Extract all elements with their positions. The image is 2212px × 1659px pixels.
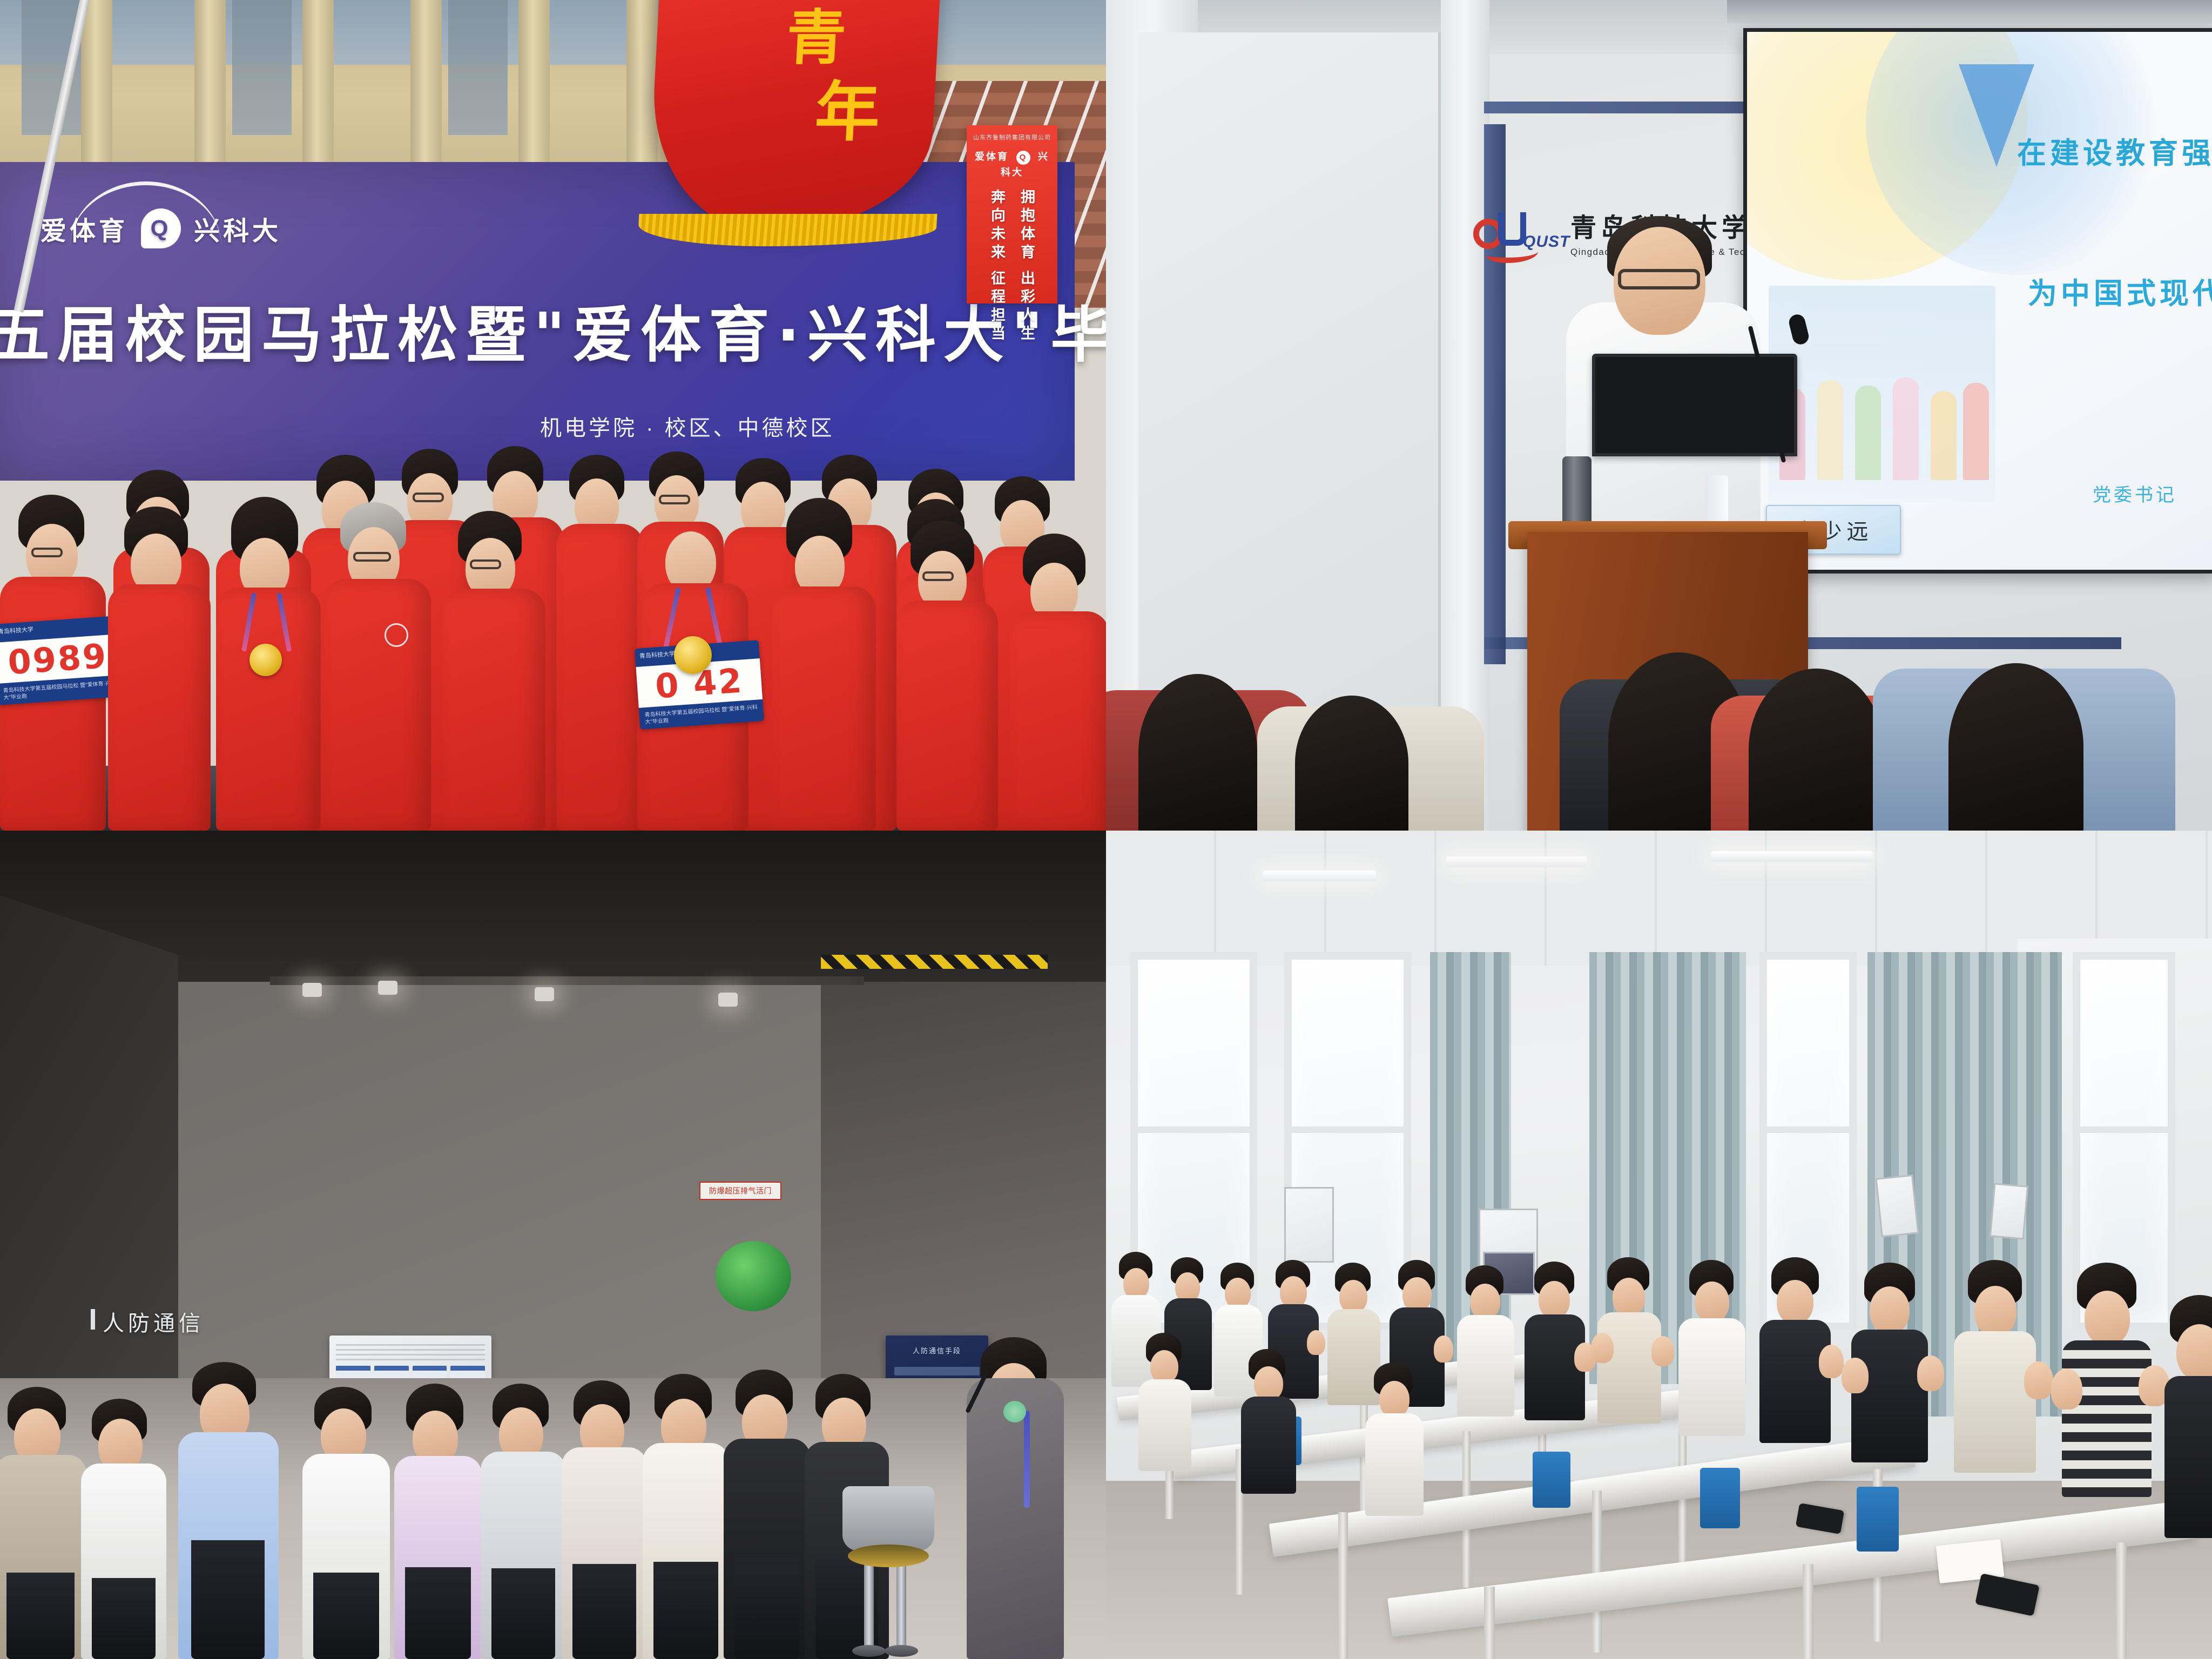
- guide-neck-scarf: [1003, 1401, 1026, 1422]
- wall-poster: [1990, 1183, 2028, 1239]
- flag-character: 年: [813, 59, 882, 153]
- exhibit-poster-title: 人防通信手段: [886, 1345, 988, 1355]
- qust-logo-icon: QUST: [1473, 210, 1554, 254]
- audience-head: [1948, 663, 2083, 831]
- medal-icon: [674, 636, 712, 674]
- slide-line-1: 在建设教育强国…: [2017, 129, 2212, 172]
- hazard-stripe: [821, 955, 1048, 969]
- laptop: [1592, 354, 1797, 456]
- slide-figure: [1963, 383, 1989, 480]
- audience-head: [1749, 669, 1884, 831]
- exhibit-section-title: 人防通信: [103, 1306, 204, 1337]
- slide-footer: 党委书记: [2093, 480, 2177, 507]
- slide-figure: [1893, 377, 1919, 480]
- shirt-logo-icon: [385, 623, 408, 647]
- qust-u-icon: [1498, 212, 1526, 246]
- guide-lanyard: [1024, 1411, 1030, 1508]
- blast-valve-icon: [716, 1241, 791, 1311]
- equipment-label: 防爆超压排气活门: [699, 1182, 781, 1200]
- photo-lecture-podium: QUST 青岛科技大学 Qingdao University of Scienc…: [1106, 0, 2212, 831]
- ceiling-light: [1446, 857, 1587, 867]
- desk-leg: [2116, 1542, 2127, 1659]
- wall-pillar: [302, 0, 334, 162]
- audience-head: [1295, 696, 1408, 831]
- photo-exhibition-tour: 防爆超压排气活门 人防通信 人防通信手段: [0, 831, 1106, 1659]
- desk-leg: [1484, 1587, 1495, 1659]
- spotlight-icon: [302, 983, 322, 997]
- bib-number: 0989: [6, 636, 109, 682]
- slide-figure: [1817, 380, 1843, 480]
- audience-head: [1138, 674, 1257, 831]
- desk-leg: [1803, 1564, 1813, 1659]
- spotlight-icon: [718, 993, 738, 1007]
- wall-pillar: [410, 0, 442, 162]
- ceiling-light: [1711, 851, 1873, 862]
- photo-collage: 爱体育 Q 兴科大 五届校园马拉松暨"爱体育·兴科大"毕业跑 机电学院 · 校区…: [0, 0, 2212, 1659]
- bib-org: 青岛科技大学: [639, 649, 675, 660]
- wall-pillar: [194, 0, 226, 162]
- backdrop-logo-mark-icon: Q: [141, 208, 181, 248]
- photo-classroom-applause: [1106, 831, 2212, 1659]
- vbanner-columns: 奔向未来 征程担当 拥抱体育 出彩人生: [967, 189, 1057, 344]
- classroom-chair: [1857, 1487, 1899, 1552]
- backdrop-title: 五届校园马拉松暨"爱体育·兴科大"毕业跑: [0, 286, 875, 374]
- projection-screen: 在建设教育强国… 为中国式现代化… 党委书记: [1743, 28, 2212, 574]
- photo-marathon-group: 爱体育 Q 兴科大 五届校园马拉松暨"爱体育·兴科大"毕业跑 机电学院 · 校区…: [0, 0, 1106, 831]
- ceiling-beam: [270, 976, 864, 985]
- vbanner-logo: 爱体育 Q 兴科大: [971, 149, 1053, 179]
- bib-org: 青岛科技大学: [0, 625, 33, 636]
- desk-leg: [1338, 1512, 1348, 1659]
- vbanner-column-2: 拥抱体育 出彩人生: [1016, 189, 1037, 344]
- backdrop-logo-right: 兴科大: [194, 210, 281, 247]
- wall-pillar: [81, 0, 112, 162]
- backdrop-logo: 爱体育 Q 兴科大: [41, 208, 281, 248]
- building-window: [232, 0, 292, 135]
- thermos: [1562, 456, 1591, 527]
- classroom-chair: [1533, 1452, 1570, 1508]
- medal-icon: [249, 644, 282, 676]
- building-upper: [0, 0, 1106, 65]
- slide-line-2: 为中国式现代化…: [2028, 269, 2212, 312]
- projector-rail: [1727, 0, 2212, 24]
- spotlight-icon: [378, 981, 397, 995]
- building-window: [448, 0, 508, 135]
- race-bib: 青岛科技大学 0989 青岛科技大学第五届校园马拉松 暨"爱体育·兴科大"毕业跑: [0, 616, 123, 705]
- classroom-chair: [1700, 1468, 1740, 1528]
- wall-poster: [1284, 1187, 1334, 1263]
- vertical-sponsor-banner: 山东齐鲁制药集团有限公司 爱体育 Q 兴科大 奔向未来 征程担当 拥抱体育 出彩…: [967, 125, 1057, 304]
- exhibit-robot: [842, 1486, 934, 1551]
- wall-poster: [1875, 1175, 1919, 1238]
- student-crowd: 青岛科技大学 0989 青岛科技大学第五届校园马拉松 暨"爱体育·兴科大"毕业跑: [0, 409, 1106, 831]
- wall-pillar: [626, 0, 658, 162]
- slide-figure: [1855, 386, 1881, 480]
- slide-figure: [1931, 391, 1957, 480]
- speaker-glasses-icon: [1618, 269, 1700, 289]
- vbanner-column-1: 奔向未来 征程担当: [987, 189, 1008, 344]
- ceiling-light: [1263, 871, 1376, 881]
- wall-pillar: [518, 0, 550, 162]
- wall-stripe: [1484, 124, 1506, 664]
- spotlight-icon: [535, 987, 554, 1001]
- vbanner-sponsor: 山东齐鲁制药集团有限公司: [971, 133, 1053, 141]
- backdrop-logo-left: 爱体育: [41, 210, 128, 247]
- qust-st-text: QUST: [1523, 233, 1570, 251]
- desk-leg: [1592, 1491, 1602, 1653]
